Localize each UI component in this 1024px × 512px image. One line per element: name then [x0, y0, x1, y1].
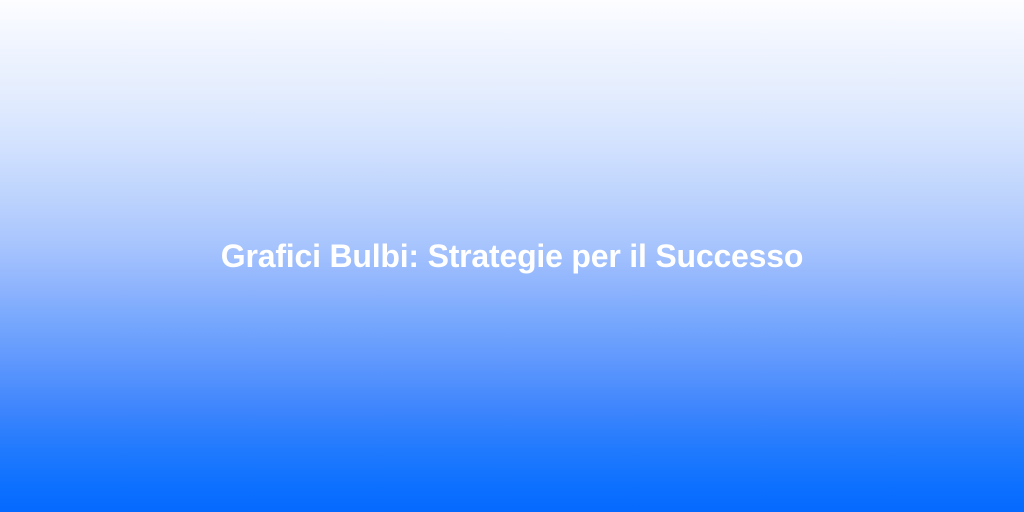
page-title: Grafici Bulbi: Strategie per il Successo [60, 236, 964, 276]
hero-banner-content: Grafici Bulbi: Strategie per il Successo [0, 236, 1024, 276]
hero-banner: Grafici Bulbi: Strategie per il Successo [0, 0, 1024, 512]
